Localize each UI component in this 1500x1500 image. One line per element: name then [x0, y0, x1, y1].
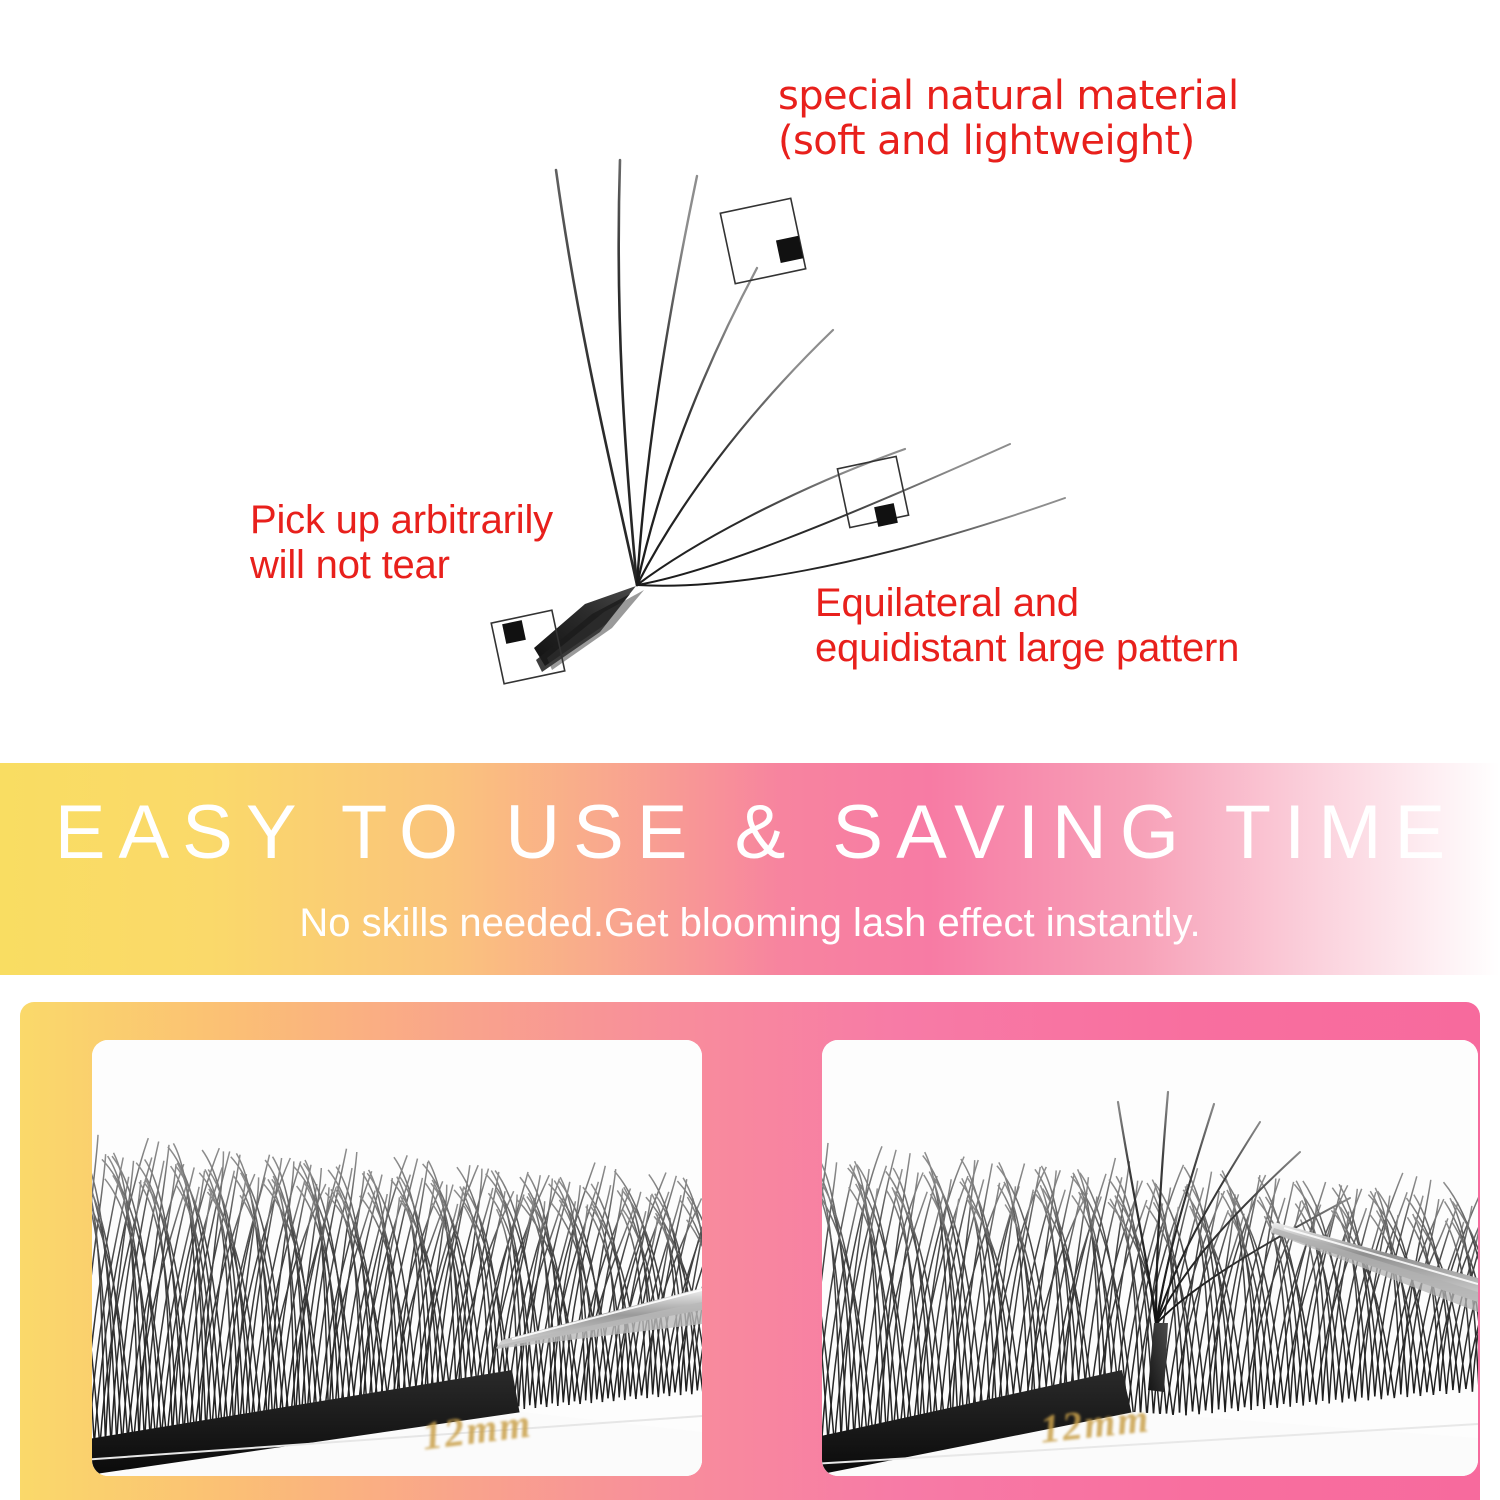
lash-fan-diagram-section: special natural material (soft and light…: [0, 0, 1500, 760]
banner-title: EASY TO USE & SAVING TIME: [0, 789, 1500, 876]
photo-card-lash-fan-pickup: 12mm: [822, 1040, 1478, 1476]
lash-fiber-group: [556, 160, 1065, 586]
lash-fan-pickup-photo: [822, 1040, 1478, 1476]
headline-banner: EASY TO USE & SAVING TIME No skills need…: [0, 763, 1500, 975]
photo-panel: 12mm: [20, 1002, 1480, 1500]
product-infographic-page: special natural material (soft and light…: [0, 0, 1500, 1500]
lash-tray-photo: [92, 1040, 702, 1476]
lash-fan-base: [534, 586, 644, 672]
banner-subtitle: No skills needed.Get blooming lash effec…: [0, 901, 1500, 946]
callout-label-pickup: Pick up arbitrarily will not tear: [250, 498, 553, 588]
callout-label-material: special natural material (soft and light…: [778, 74, 1239, 164]
lash-fan-illustration: [0, 0, 1500, 760]
callout-marker-right: [837, 456, 908, 527]
photo-card-lash-tray: 12mm: [92, 1040, 702, 1476]
callout-marker-top: [720, 198, 805, 283]
callout-label-pattern: Equilateral and equidistant large patter…: [815, 581, 1239, 671]
